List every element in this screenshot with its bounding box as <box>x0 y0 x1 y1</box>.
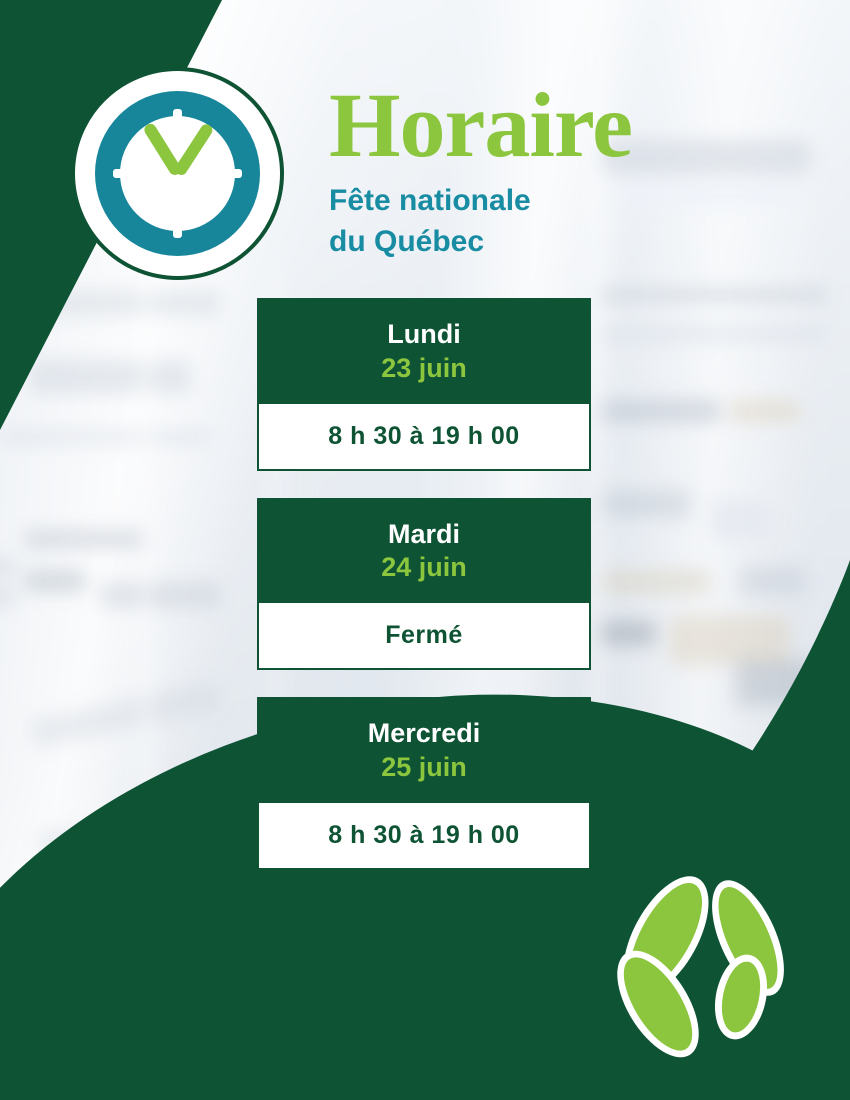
butterfly-logo-icon <box>616 862 811 1062</box>
page-subtitle: Fête nationale du Québec <box>329 181 749 262</box>
clock-tick-12 <box>173 109 182 127</box>
clock-tick-6 <box>173 220 182 238</box>
clock-tick-9 <box>113 169 131 178</box>
schedule-list: Lundi 23 juin 8 h 30 à 19 h 00 Mardi 24 … <box>257 298 591 870</box>
page-subtitle-line1: Fête nationale <box>329 181 749 222</box>
schedule-day-hours: 8 h 30 à 19 h 00 <box>328 422 519 451</box>
clock-tick-3 <box>224 169 242 178</box>
title-block: Horaire Fête nationale du Québec <box>329 82 749 262</box>
schedule-day-name: Mercredi <box>267 717 581 751</box>
schedule-day-date: 24 juin <box>267 551 581 585</box>
schedule-day-hours: 8 h 30 à 19 h 00 <box>328 821 519 850</box>
schedule-card-tuesday: Mardi 24 juin Fermé <box>257 498 591 671</box>
schedule-card-wednesday: Mercredi 25 juin 8 h 30 à 19 h 00 <box>257 697 591 870</box>
schedule-card-body: 8 h 30 à 19 h 00 <box>257 404 591 471</box>
clock-minute-hand <box>142 121 183 177</box>
clock-teal-ring <box>95 91 260 256</box>
schedule-card-header: Mercredi 25 juin <box>257 697 591 803</box>
schedule-day-name: Mardi <box>267 518 581 552</box>
schedule-day-name: Lundi <box>267 318 581 352</box>
schedule-day-date: 25 juin <box>267 751 581 785</box>
schedule-card-monday: Lundi 23 juin 8 h 30 à 19 h 00 <box>257 298 591 471</box>
schedule-day-date: 23 juin <box>267 352 581 386</box>
schedule-day-hours: Fermé <box>385 621 463 650</box>
schedule-card-body: 8 h 30 à 19 h 00 <box>257 803 591 870</box>
page-subtitle-line2: du Québec <box>329 222 749 263</box>
page-title: Horaire <box>329 82 749 169</box>
clock-face <box>120 116 235 231</box>
poster-canvas: Horaire Fête nationale du Québec Lundi 2… <box>0 0 850 1100</box>
clock-icon <box>71 67 284 280</box>
schedule-card-header: Lundi 23 juin <box>257 298 591 404</box>
schedule-card-body: Fermé <box>257 603 591 670</box>
schedule-card-header: Mardi 24 juin <box>257 498 591 604</box>
